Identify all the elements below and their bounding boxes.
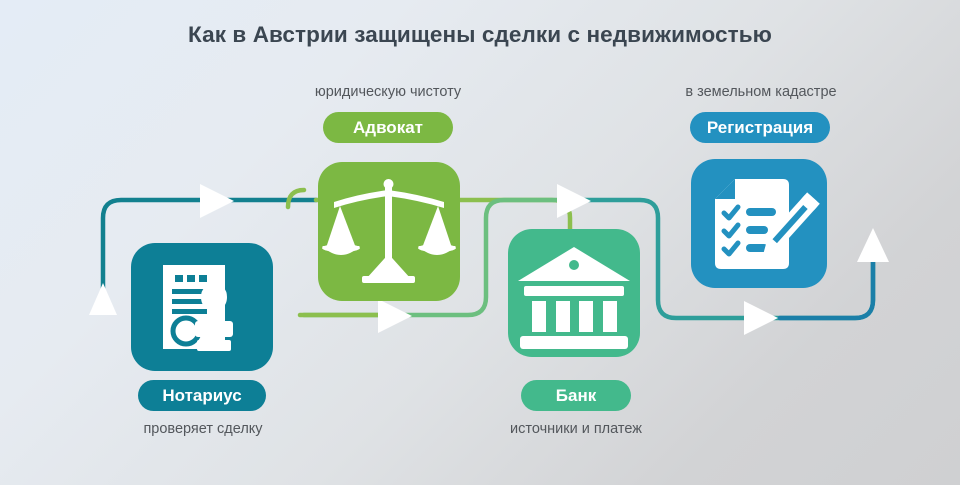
bank-building-icon xyxy=(518,247,630,349)
caption-notary: проверяет сделку xyxy=(132,421,274,437)
badge-register[interactable]: Регистрация xyxy=(690,112,830,143)
triangle-right-arrow-2-icon xyxy=(378,299,412,333)
badge-notary[interactable]: Нотариус xyxy=(138,380,266,411)
document-stamp-icon xyxy=(163,265,233,351)
caption-register: в земельном кадастре xyxy=(675,84,847,100)
badge-bank[interactable]: Банк xyxy=(521,380,631,411)
checklist-pencil-icon xyxy=(715,179,820,269)
caption-bank: источники и платеж xyxy=(495,421,657,437)
triangle-right-arrow-3-icon xyxy=(557,184,591,218)
triangle-right-arrow-4-icon xyxy=(744,301,778,335)
infographic-canvas: Как в Австрии защищены сделки с недвижим… xyxy=(0,0,960,485)
triangle-up-start-icon xyxy=(89,283,117,315)
step-tile-lawyer[interactable] xyxy=(318,162,460,301)
step-tile-register[interactable] xyxy=(691,159,827,288)
badge-lawyer[interactable]: Адвокат xyxy=(323,112,453,143)
step-tile-notary[interactable] xyxy=(131,243,273,371)
caption-lawyer: юридическую чистоту xyxy=(307,84,469,100)
step-tile-bank[interactable] xyxy=(508,229,640,357)
scales-of-justice-icon xyxy=(322,179,456,283)
triangle-right-arrow-1-icon xyxy=(200,184,234,218)
triangle-up-end-icon xyxy=(857,228,889,262)
